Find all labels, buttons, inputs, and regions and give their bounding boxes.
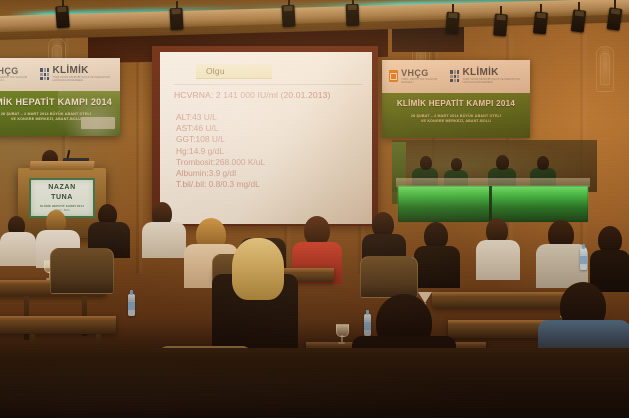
glass-foot <box>338 342 345 344</box>
banner-logo-strip: VHÇG VİRAL HEPATİTLE SAVAŞIM DERNEĞİ KLİ… <box>382 60 530 93</box>
bottle-label <box>364 322 371 330</box>
nameplate-first-name: NAZAN <box>48 184 76 191</box>
table-edge <box>0 316 116 320</box>
banquet-table <box>0 316 116 334</box>
glass-stem <box>341 335 343 342</box>
stage-light <box>169 8 183 31</box>
klimik-logo: KLİMİK TÜRK KLİNİK MİKROBİYOLOJİ VE İNFE… <box>40 66 120 82</box>
water-bottle <box>580 248 587 270</box>
banquet-chair <box>50 248 114 294</box>
congress-banner-left: VHÇG VİRAL HEPATİTLE SAVAŞIM DERNEĞİ KLİ… <box>0 58 120 136</box>
congress-banner-right: VHÇG VİRAL HEPATİTLE SAVAŞIM DERNEĞİ KLİ… <box>382 60 530 138</box>
panelist-head <box>451 158 462 171</box>
attendee-body <box>142 222 186 258</box>
banquet-table <box>432 292 566 308</box>
vhcg-logo: VHÇG VİRAL HEPATİTLE SAVAŞIM DERNEĞİ <box>389 69 438 84</box>
banner-title-strip: KLİMİK HEPATİT KAMPI 2014 28 ŞUBAT – 2 M… <box>0 91 120 136</box>
banner-subtitle: 28 ŞUBAT – 2 MART 2014 BÜYÜK ABANT OTELİ… <box>0 112 120 122</box>
attendee-body <box>414 246 460 288</box>
slide-hcvrna-line: HCVRNA: 2 141 000 IU/ml (20.01.2013) <box>174 90 370 100</box>
klimik-mark-icon <box>40 68 49 80</box>
vhcg-logo: VHÇG VİRAL HEPATİTLE SAVAŞIM DERNEĞİ <box>0 67 28 82</box>
lab-row: Albumin:3.9 g/dl <box>176 168 366 179</box>
klimik-wordmark: KLİMİK <box>52 66 120 76</box>
glass-bowl <box>336 324 349 337</box>
attendee-body <box>476 240 520 280</box>
stage-light <box>571 9 587 32</box>
klimik-subtext: TÜRK KLİNİK MİKROBİYOLOJİ VE İNFEKSİYON … <box>52 76 120 82</box>
stage-light <box>55 6 70 29</box>
lab-row: AST:46 U/L <box>176 123 366 134</box>
vhcg-wordmark: VHÇG <box>0 67 28 76</box>
banner-subtitle: 28 ŞUBAT – 2 MART 2014 BÜYÜK ABANT OTELİ… <box>382 114 530 124</box>
klimik-logo: KLİMİK TÜRK KLİNİK MİKROBİYOLOJİ VE İNFE… <box>450 68 530 84</box>
slide-divider <box>174 84 362 85</box>
stage-light <box>281 5 295 28</box>
panelist-head <box>496 155 509 170</box>
banner-subtitle-line2: VE KONGRE MERKEZİ, ABANT-BOLU <box>0 117 120 122</box>
stage-light <box>493 13 508 36</box>
vhcg-wordmark: VHÇG <box>401 69 438 78</box>
lab-row: T.bil/.bil: 0.8/0.3 mg/dL <box>176 179 366 190</box>
water-bottle <box>364 314 371 336</box>
wall-ornament <box>596 46 614 92</box>
slide-title-label: Olgu <box>196 66 225 76</box>
klimik-mark-icon <box>450 70 459 82</box>
drinking-glass <box>336 324 347 344</box>
attendee-body <box>0 232 36 266</box>
klimik-wordmark: KLİMİK <box>462 68 530 78</box>
slide-lab-list: ALT:43 U/L AST:46 U/L GGT:108 U/L Hg:14.… <box>176 112 366 190</box>
stage-light <box>346 4 360 26</box>
vhcg-mark-icon <box>389 70 398 82</box>
conference-hall-photo: VHÇG VİRAL HEPATİTLE SAVAŞIM DERNEĞİ KLİ… <box>0 0 629 418</box>
bottle-label <box>580 256 587 264</box>
panelist-head <box>420 156 432 170</box>
banner-subtitle-line2: VE KONGRE MERKEZİ, ABANT-BOLU <box>382 119 530 124</box>
lectern-top-surface <box>29 161 94 170</box>
banner-title-strip: KLİMİK HEPATİT KAMPI 2014 28 ŞUBAT – 2 M… <box>382 93 530 138</box>
slide-title-box: Olgu <box>196 64 272 79</box>
lab-row: ALT:43 U/L <box>176 112 366 123</box>
stage-light <box>533 11 548 34</box>
vhcg-subtext: VİRAL HEPATİTLE SAVAŞIM DERNEĞİ <box>401 78 438 84</box>
table-edge <box>432 292 566 296</box>
banner-title: KLİMİK HEPATİT KAMPI 2014 <box>382 99 530 108</box>
banquet-chair <box>360 256 418 298</box>
lab-row: GGT:108 U/L <box>176 134 366 145</box>
banner-title: KLİMİK HEPATİT KAMPI 2014 <box>0 97 120 107</box>
stage-light <box>445 12 460 35</box>
lab-row: Trombosit:268.000 K/uL <box>176 157 366 168</box>
klimik-subtext: TÜRK KLİNİK MİKROBİYOLOJİ VE İNFEKSİYON … <box>462 78 530 84</box>
lab-row: Hg:14.9 g/dL <box>176 146 366 157</box>
vhcg-subtext: VİRAL HEPATİTLE SAVAŞIM DERNEĞİ <box>0 76 28 82</box>
banner-logo-strip: VHÇG VİRAL HEPATİTLE SAVAŞIM DERNEĞİ KLİ… <box>0 58 120 91</box>
panelist-head <box>537 156 549 170</box>
bottle-label <box>128 302 135 310</box>
attendee-head-foreground <box>232 238 284 300</box>
carpet-floor <box>0 348 629 418</box>
water-bottle <box>128 294 135 316</box>
